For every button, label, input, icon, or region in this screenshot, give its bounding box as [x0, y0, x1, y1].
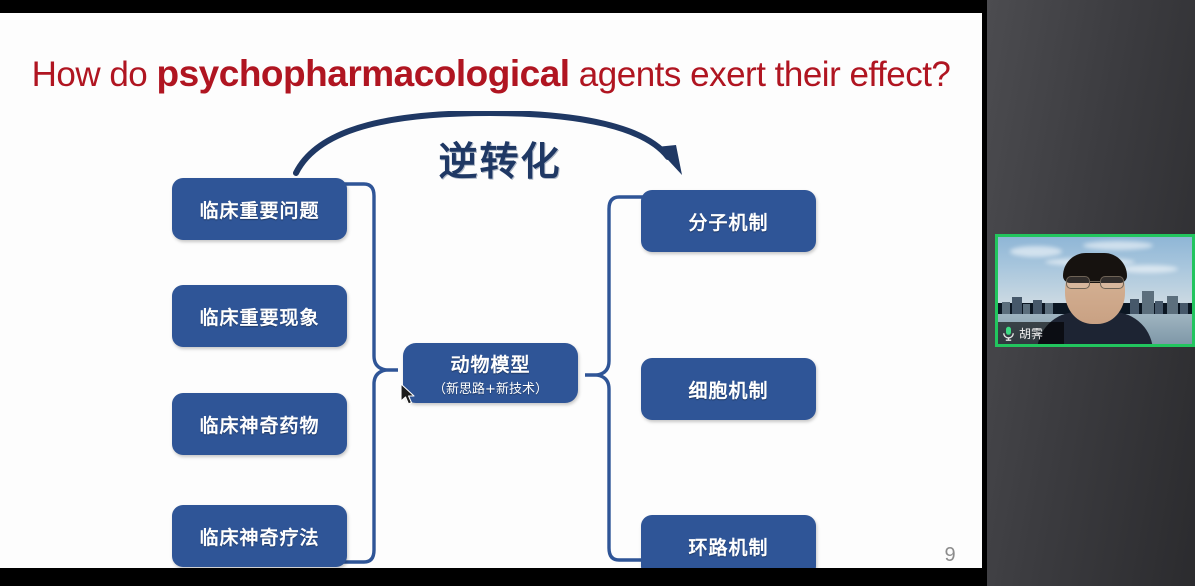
participant-name-bar: 胡霁 [998, 322, 1064, 344]
mouse-pointer-icon [400, 383, 418, 407]
node-circuit-mechanism[interactable]: 环路机制 [641, 515, 816, 568]
reverse-translation-label: 逆转化 [400, 131, 600, 187]
cloud-shape [1010, 246, 1062, 257]
presentation-slide: How do psychopharmacological agents exer… [0, 13, 982, 568]
slide-title-suffix: agents exert their effect? [570, 55, 951, 94]
node-clinical-phenomenon[interactable]: 临床重要现象 [172, 285, 347, 347]
node-label: 细胞机制 [688, 376, 768, 403]
participant-name-label: 胡霁 [1019, 325, 1043, 342]
node-sublabel: （新思路+新技术） [433, 378, 548, 397]
glasses-icon [1066, 276, 1124, 289]
node-label: 动物模型 [450, 350, 530, 377]
left-brace-connector [338, 178, 398, 568]
node-animal-model[interactable]: 动物模型 （新思路+新技术） [403, 343, 578, 403]
participant-video-tile[interactable]: 胡霁 [995, 234, 1195, 347]
node-label: 临床神奇疗法 [199, 523, 319, 550]
slide-title-prefix: How do [32, 55, 157, 94]
node-label: 临床神奇药物 [199, 411, 319, 438]
slide-page-number: 9 [930, 544, 970, 567]
cloud-shape [1118, 265, 1178, 273]
node-clinical-therapy[interactable]: 临床神奇疗法 [172, 505, 347, 567]
slide-title: How do psychopharmacological agents exer… [0, 53, 982, 95]
microphone-icon [1002, 326, 1015, 341]
share-top-letterbox [0, 0, 987, 13]
right-brace-connector [585, 191, 645, 566]
node-clinical-question[interactable]: 临床重要问题 [172, 178, 347, 240]
node-cellular-mechanism[interactable]: 细胞机制 [641, 358, 816, 420]
slide-title-emphasis: psychopharmacological [157, 53, 570, 94]
share-bottom-letterbox [0, 568, 987, 586]
node-label: 临床重要问题 [199, 196, 319, 223]
node-label: 环路机制 [688, 533, 768, 560]
shared-screen-region: How do psychopharmacological agents exer… [0, 0, 987, 586]
node-label: 分子机制 [688, 208, 768, 235]
node-clinical-drug[interactable]: 临床神奇药物 [172, 393, 347, 455]
screen-root: How do psychopharmacological agents exer… [0, 0, 1195, 586]
node-label: 临床重要现象 [199, 303, 319, 330]
node-molecular-mechanism[interactable]: 分子机制 [641, 190, 816, 252]
